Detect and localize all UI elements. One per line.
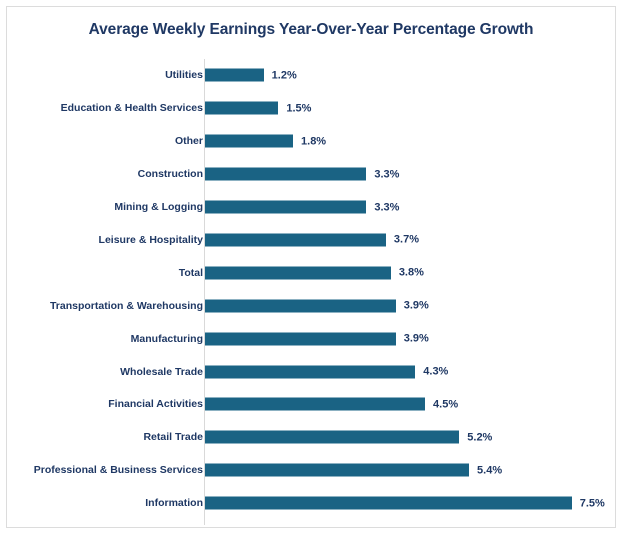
bar-row: Total3.8% [7, 256, 617, 289]
bar-with-value: 7.5% [205, 497, 605, 510]
bar [205, 398, 425, 411]
bar-with-value: 1.5% [205, 102, 311, 115]
category-label: Wholesale Trade [120, 366, 203, 378]
bar-value-label: 3.9% [404, 333, 429, 345]
bar-value-label: 1.8% [301, 135, 326, 147]
bar-value-label: 4.3% [423, 366, 448, 378]
bar-row: Information7.5% [7, 487, 617, 520]
bar-row: Manufacturing3.9% [7, 322, 617, 355]
category-label: Professional & Business Services [34, 464, 203, 476]
bar-value-label: 3.9% [404, 300, 429, 312]
bar-row: Utilities1.2% [7, 59, 617, 92]
bar-row: Mining & Logging3.3% [7, 191, 617, 224]
bar-with-value: 4.5% [205, 398, 458, 411]
category-label: Financial Activities [108, 398, 203, 410]
bar-value-label: 4.5% [433, 398, 458, 410]
plot-area: Utilities1.2%Education & Health Services… [7, 59, 617, 527]
bar-row: Transportation & Warehousing3.9% [7, 289, 617, 322]
category-label: Total [179, 267, 203, 279]
bar-with-value: 3.9% [205, 332, 429, 345]
category-label: Utilities [165, 69, 203, 81]
category-label: Construction [138, 168, 203, 180]
bar-row: Construction3.3% [7, 158, 617, 191]
bar-with-value: 3.3% [205, 168, 399, 181]
category-label: Retail Trade [143, 431, 203, 443]
bar [205, 497, 572, 510]
bar-row: Leisure & Hospitality3.7% [7, 224, 617, 257]
bar-with-value: 4.3% [205, 365, 448, 378]
bar [205, 135, 293, 148]
bar-with-value: 5.4% [205, 464, 502, 477]
bar [205, 102, 278, 115]
bar-value-label: 3.3% [374, 201, 399, 213]
bar-with-value: 3.3% [205, 201, 399, 214]
bar [205, 69, 264, 82]
bar-row: Retail Trade5.2% [7, 421, 617, 454]
bar [205, 332, 396, 345]
bar-with-value: 1.8% [205, 135, 326, 148]
bar-with-value: 3.9% [205, 299, 429, 312]
bar-row: Other1.8% [7, 125, 617, 158]
bar-value-label: 5.2% [467, 431, 492, 443]
category-label: Transportation & Warehousing [50, 300, 203, 312]
bar-value-label: 7.5% [580, 497, 605, 509]
bar-value-label: 1.5% [286, 102, 311, 114]
category-label: Mining & Logging [114, 201, 203, 213]
bar-with-value: 3.8% [205, 266, 424, 279]
bar [205, 431, 459, 444]
chart-title: Average Weekly Earnings Year-Over-Year P… [7, 21, 615, 39]
bar [205, 464, 469, 477]
category-label: Manufacturing [131, 333, 203, 345]
bar [205, 201, 366, 214]
bar [205, 233, 386, 246]
bar-value-label: 1.2% [272, 69, 297, 81]
bar [205, 365, 415, 378]
bar-value-label: 3.7% [394, 234, 419, 246]
bar [205, 299, 396, 312]
category-label: Education & Health Services [61, 102, 203, 114]
bar-row: Financial Activities4.5% [7, 388, 617, 421]
bar-row: Wholesale Trade4.3% [7, 355, 617, 388]
bar [205, 266, 391, 279]
bar-value-label: 3.8% [399, 267, 424, 279]
bar-value-label: 3.3% [374, 168, 399, 180]
bar-with-value: 1.2% [205, 69, 297, 82]
category-label: Other [175, 135, 203, 147]
bar [205, 168, 366, 181]
category-label: Leisure & Hospitality [99, 234, 203, 246]
bar-with-value: 3.7% [205, 233, 419, 246]
chart-frame: Average Weekly Earnings Year-Over-Year P… [6, 6, 616, 528]
bar-row: Education & Health Services1.5% [7, 92, 617, 125]
category-label: Information [145, 497, 203, 509]
bar-with-value: 5.2% [205, 431, 492, 444]
bar-row: Professional & Business Services5.4% [7, 454, 617, 487]
bar-value-label: 5.4% [477, 464, 502, 476]
